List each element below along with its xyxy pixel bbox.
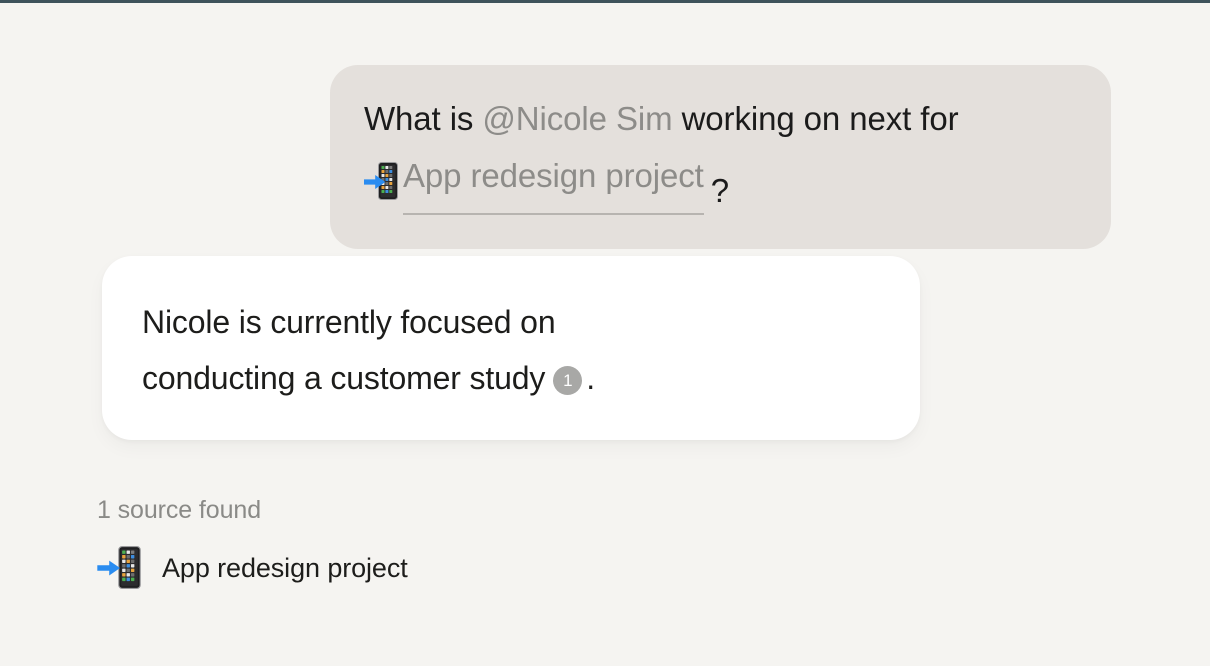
sources-heading: 1 source found [97, 493, 797, 527]
question-text-prefix: What is [364, 100, 482, 137]
user-question-bubble[interactable]: What is @Nicole Sim working on next for [330, 65, 1111, 249]
reference-chip-app-redesign-project[interactable]: App redesign project [364, 148, 704, 215]
answer-line-2: conducting a customer study1. [142, 350, 880, 406]
citation-badge-1[interactable]: 1 [553, 366, 582, 395]
answer-text-before-citation: conducting a customer study [142, 360, 545, 396]
sources-section: 1 source found [97, 493, 797, 590]
source-list-item[interactable]: App redesign project [97, 546, 797, 590]
mention-chip-nicole-sim[interactable]: @Nicole Sim [482, 100, 672, 137]
question-line-2: App redesign project ? [364, 148, 1077, 219]
arrow-right-icon [364, 174, 386, 190]
arrow-right-mobile-phone-emoji-icon [97, 546, 141, 590]
question-line-1: What is @Nicole Sim working on next for [364, 91, 1077, 147]
reference-label: App redesign project [403, 148, 704, 215]
mobile-phone-icon [118, 546, 141, 589]
conversation-thread: What is @Nicole Sim working on next for [0, 3, 1210, 666]
answer-text-after-citation: . [586, 360, 595, 396]
source-item-label: App redesign project [162, 551, 408, 585]
arrow-right-icon [97, 560, 121, 577]
arrow-right-mobile-phone-emoji-icon [364, 162, 398, 202]
assistant-answer-card: Nicole is currently focused on conductin… [102, 256, 920, 440]
answer-line-1: Nicole is currently focused on [142, 294, 880, 350]
question-mark: ? [711, 172, 729, 209]
question-text-suffix: working on next for [673, 100, 959, 137]
